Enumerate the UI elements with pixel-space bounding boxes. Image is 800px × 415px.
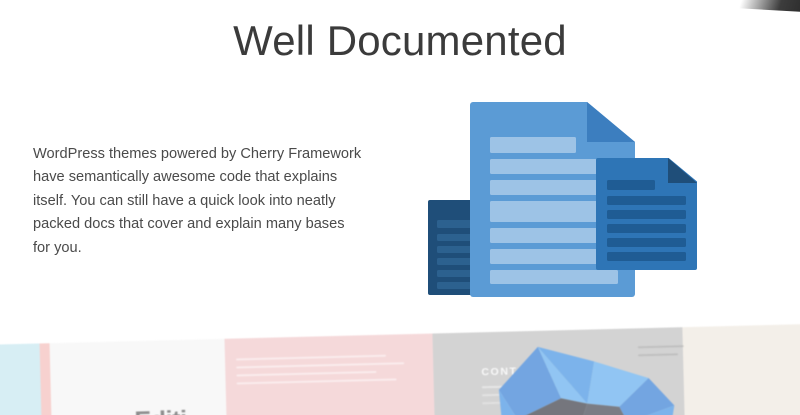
top-right-diagonal-sliver (730, 0, 800, 12)
text-line (490, 159, 597, 174)
preview-panel-cyan (0, 343, 42, 415)
text-line (490, 270, 618, 284)
next-slide-preview-strip[interactable]: al. Editi CONTACTS (0, 323, 800, 415)
document-back-right-icon (596, 158, 697, 270)
text-line (490, 137, 576, 153)
text-line (607, 238, 686, 247)
text-line (607, 252, 686, 261)
preview-panel-cream (682, 323, 800, 415)
text-line (607, 224, 686, 233)
corner-wedge-shape (730, 0, 800, 12)
text-line (607, 196, 686, 205)
page-title: Well Documented (0, 16, 800, 66)
text-line (607, 210, 686, 219)
preview-heading-text: Editi (134, 406, 187, 415)
stacked-documents-illustration (420, 90, 720, 300)
preview-panel-white (50, 339, 227, 415)
slide-canvas: Well Documented WordPress themes powered… (0, 0, 800, 415)
text-line (607, 180, 655, 190)
body-paragraph: WordPress themes powered by Cherry Frame… (33, 143, 363, 260)
polygon-gem-graphic (498, 343, 676, 415)
